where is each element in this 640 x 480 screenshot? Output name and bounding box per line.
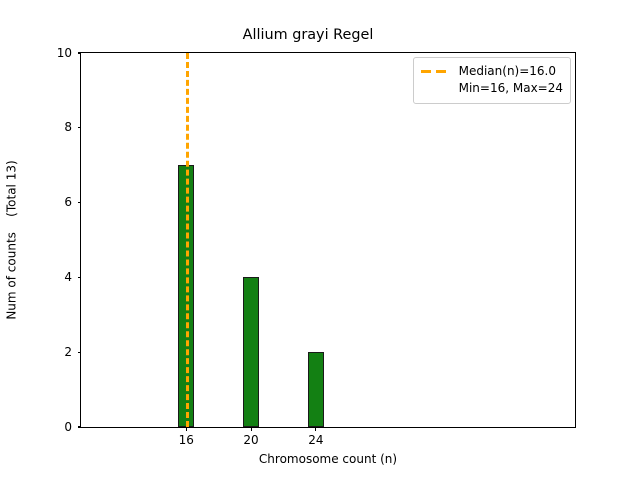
y-tick-mark — [78, 426, 82, 427]
y-tick-mark — [78, 202, 82, 203]
median-line — [186, 53, 189, 427]
bar-n-24 — [308, 352, 324, 427]
x-tick-mark — [251, 427, 252, 431]
y-tick-mark — [78, 277, 82, 278]
y-tick-label: 6 — [64, 194, 72, 211]
legend-median-line-icon — [421, 63, 451, 80]
legend-label-group: Median(n)=16.0 Min=16, Max=24 — [459, 63, 563, 97]
x-axis-label: Chromosome count (n) — [80, 452, 576, 467]
plot-axes: Median(n)=16.0 Min=16, Max=24 0246810162… — [80, 52, 576, 428]
y-tick-mark — [78, 52, 82, 53]
x-tick-mark — [315, 427, 316, 431]
chart-title: Allium grayi Regel — [0, 27, 640, 44]
x-tick-label: 16 — [156, 432, 216, 449]
legend-label-minmax: Min=16, Max=24 — [459, 80, 563, 97]
plot-area — [81, 53, 575, 427]
chart-title-text: Allium grayi Regel — [243, 27, 374, 43]
legend-label-median: Median(n)=16.0 — [459, 63, 563, 80]
y-tick-mark — [78, 352, 82, 353]
x-tick-label: 20 — [221, 432, 281, 449]
x-tick-label: 24 — [286, 432, 346, 449]
y-tick-label: 8 — [64, 119, 72, 136]
y-tick-label: 4 — [64, 269, 72, 286]
y-axis-label-main: Num of counts — [5, 232, 19, 320]
y-axis-label-sub — [5, 217, 19, 232]
legend: Median(n)=16.0 Min=16, Max=24 — [413, 57, 571, 104]
y-tick-label: 10 — [57, 45, 72, 62]
y-tick-label: 0 — [64, 419, 72, 436]
figure-canvas: Allium grayi Regel Median(n)=16.0 Min=16… — [0, 0, 640, 480]
y-axis-label-total: (Total 13) — [5, 160, 19, 216]
y-tick-label: 2 — [64, 344, 72, 361]
y-tick-mark — [78, 127, 82, 128]
y-axis-label-container: Num of counts (Total 13) — [0, 52, 24, 428]
x-tick-mark — [186, 427, 187, 431]
y-axis-label: Num of counts (Total 13) — [5, 160, 20, 319]
bar-n-20 — [243, 277, 259, 427]
